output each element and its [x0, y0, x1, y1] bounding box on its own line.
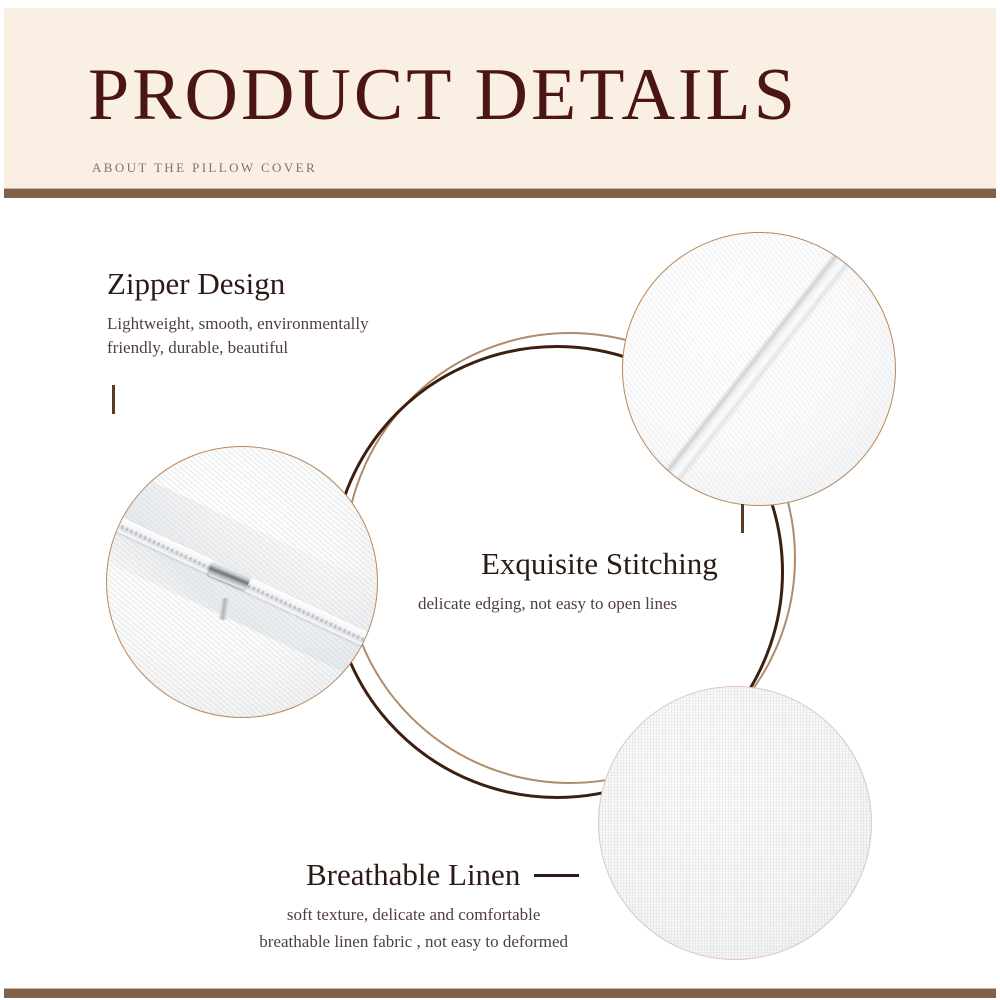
feature-body-line: delicate edging, not easy to open lines — [418, 592, 718, 616]
feature-block-linen: Breathable Linen soft texture, delicate … — [306, 857, 579, 954]
feature-title-stitching: Exquisite Stitching — [481, 546, 718, 582]
em-dash-accent — [534, 874, 579, 877]
feature-block-stitching: Exquisite Stitching delicate edging, not… — [481, 546, 718, 616]
product-details-infographic: PRODUCT DETAILS ABOUT THE PILLOW COVER Z… — [0, 0, 1000, 1000]
page-title: PRODUCT DETAILS — [88, 54, 798, 136]
header-band: PRODUCT DETAILS ABOUT THE PILLOW COVER — [4, 8, 996, 188]
feature-block-zipper: Zipper Design Lightweight, smooth, envir… — [107, 266, 369, 360]
feature-title-zipper: Zipper Design — [107, 266, 369, 302]
page-subtitle: ABOUT THE PILLOW COVER — [92, 160, 317, 176]
feature-body-line: soft texture, delicate and comfortable — [248, 903, 579, 927]
feature-body-zipper: Lightweight, smooth, environmentally fri… — [107, 312, 369, 360]
feature-body-linen: soft texture, delicate and comfortable b… — [248, 903, 579, 954]
accent-tick-zipper — [112, 385, 115, 414]
feature-title-linen: Breathable Linen — [306, 857, 520, 893]
photo-circle-stitching — [622, 232, 896, 506]
feature-title-linen-row: Breathable Linen — [306, 857, 579, 893]
feature-body-stitching: delicate edging, not easy to open lines — [418, 592, 718, 616]
feature-body-line: friendly, durable, beautiful — [107, 336, 369, 360]
feature-body-line: Lightweight, smooth, environmentally — [107, 312, 369, 336]
feature-body-line: breathable linen fabric , not easy to de… — [248, 930, 579, 954]
footer-divider-rule — [4, 988, 996, 998]
header-divider-rule — [4, 188, 996, 198]
photo-circle-zipper — [106, 446, 378, 718]
photo-circle-linen — [598, 686, 872, 960]
accent-tick-stitching — [741, 504, 744, 533]
